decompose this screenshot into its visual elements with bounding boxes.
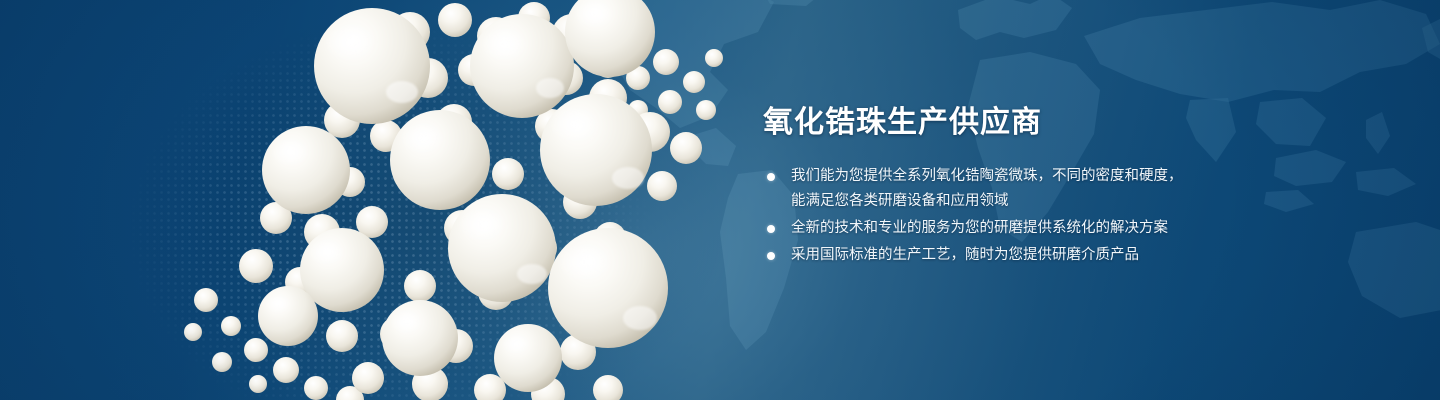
- list-item-line: 能满足您各类研磨设备和应用领域: [791, 189, 1233, 214]
- banner-copy-block: 氧化锆珠生产供应商 我们能为您提供全系列氧化锆陶瓷微珠，不同的密度和硬度， 能满…: [763, 104, 1233, 270]
- list-item-line: 全新的技术和专业的服务为您的研磨提供系统化的解决方案: [791, 216, 1233, 241]
- bullet-dot-icon: [767, 225, 775, 233]
- hero-banner: 氧化锆珠生产供应商 我们能为您提供全系列氧化锆陶瓷微珠，不同的密度和硬度， 能满…: [0, 0, 1440, 400]
- bullet-dot-icon: [767, 252, 775, 260]
- list-item: 我们能为您提供全系列氧化锆陶瓷微珠，不同的密度和硬度， 能满足您各类研磨设备和应…: [763, 164, 1233, 214]
- feature-list: 我们能为您提供全系列氧化锆陶瓷微珠，不同的密度和硬度， 能满足您各类研磨设备和应…: [763, 164, 1233, 268]
- page-title: 氧化锆珠生产供应商: [763, 104, 1233, 142]
- list-item: 采用国际标准的生产工艺，随时为您提供研磨介质产品: [763, 243, 1233, 268]
- list-item-line: 我们能为您提供全系列氧化锆陶瓷微珠，不同的密度和硬度，: [791, 164, 1233, 189]
- list-item: 全新的技术和专业的服务为您的研磨提供系统化的解决方案: [763, 216, 1233, 241]
- bullet-dot-icon: [767, 173, 775, 181]
- list-item-line: 采用国际标准的生产工艺，随时为您提供研磨介质产品: [791, 243, 1233, 268]
